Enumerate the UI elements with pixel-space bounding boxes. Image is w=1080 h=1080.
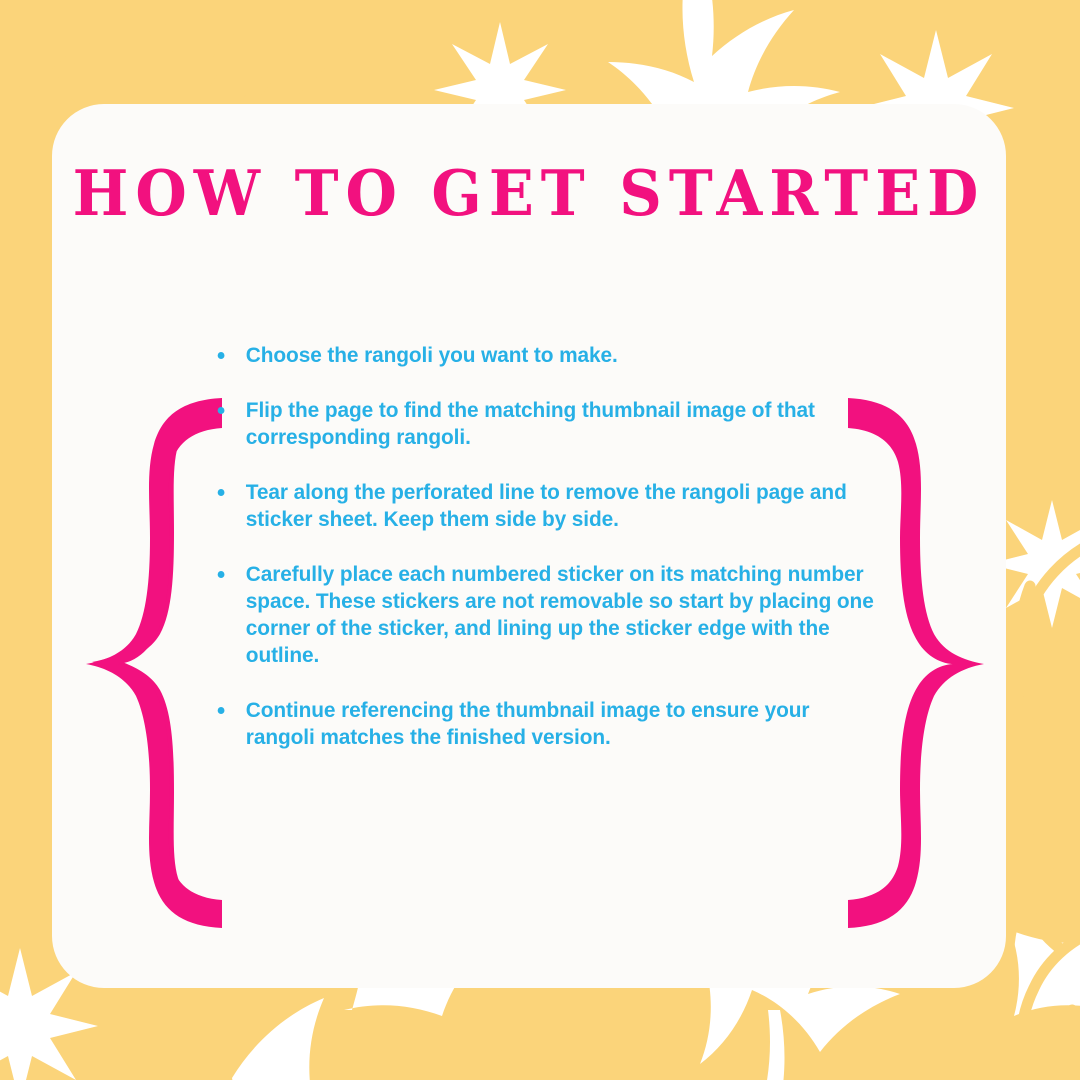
bullet-icon [218,407,225,414]
bullet-icon [218,489,225,496]
step-text: Carefully place each numbered sticker on… [246,562,874,667]
step-text: Continue referencing the thumbnail image… [246,698,810,749]
step-text: Flip the page to find the matching thumb… [246,398,815,449]
instructions-card: HOW TO GET STARTED Choose the rangoli yo… [52,104,1006,988]
step-text: Choose the rangoli you want to make. [246,343,618,367]
list-item: Continue referencing the thumbnail image… [207,697,876,751]
bullet-icon [218,707,225,714]
list-item: Choose the rangoli you want to make. [207,342,876,369]
list-item: Tear along the perforated line to remove… [207,479,876,533]
list-item: Carefully place each numbered sticker on… [207,561,876,669]
bullet-icon [218,571,225,578]
page-title: HOW TO GET STARTED [52,162,1006,225]
step-text: Tear along the perforated line to remove… [246,480,847,531]
steps-list: Choose the rangoli you want to make. Fli… [207,342,897,751]
list-item: Flip the page to find the matching thumb… [207,397,876,451]
bullet-icon [218,352,225,359]
